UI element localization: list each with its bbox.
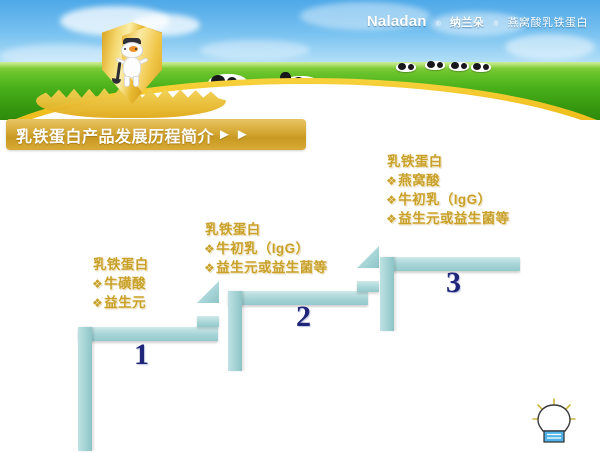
bullet-icon: ❖ (386, 174, 397, 188)
step-connector-nub-2 (357, 281, 379, 292)
brand-registered-mark: ® (436, 21, 441, 28)
step-3-line-1-text: 乳铁蛋白 (387, 154, 443, 169)
step-1-text-block: 乳铁蛋白 ❖牛磺酸 ❖益生元 (92, 255, 149, 312)
step-3-number: 3 (446, 266, 461, 300)
step-1-number: 1 (134, 338, 149, 372)
step-2-line-1-text: 乳铁蛋白 (205, 222, 261, 237)
lightbulb-icon (528, 398, 580, 446)
step-2-line-2: ❖牛初乳（IgG） (204, 239, 327, 258)
brand-tagline: 燕窝酸乳铁蛋白 (508, 14, 589, 30)
step-1-line-3-text: 益生元 (104, 295, 146, 310)
step-3-line-2-text: 燕窝酸 (398, 173, 440, 188)
step-2-line-3-text: 益生元或益生菌等 (216, 260, 327, 275)
step-3-line-3: ❖牛初乳（IgG） (386, 190, 509, 209)
step-2-line-1: 乳铁蛋白 (204, 220, 327, 239)
brand-name-chinese: 纳兰朵 (450, 14, 485, 30)
step-connector-triangle-2 (357, 246, 379, 268)
bullet-icon: ❖ (92, 296, 103, 310)
step-3-text-block: 乳铁蛋白 ❖燕窝酸 ❖牛初乳（IgG） ❖益生元或益生菌等 (386, 152, 509, 229)
cow-mascot-icon (118, 42, 146, 88)
step-2-line-3: ❖益生元或益生菌等 (204, 258, 327, 277)
step-1-line-2: ❖牛磺酸 (92, 274, 149, 293)
cow-illustration (395, 62, 417, 72)
step-1-riser (78, 327, 92, 451)
bullet-icon: ❖ (204, 242, 215, 256)
cow-illustration (424, 60, 446, 70)
step-3-line-1: 乳铁蛋白 (386, 152, 509, 171)
step-1-line-2-text: 牛磺酸 (104, 276, 146, 291)
step-connector-nub-1 (197, 316, 219, 327)
bullet-icon: ❖ (92, 277, 103, 291)
step-2-line-2-text: 牛初乳（IgG） (216, 241, 309, 256)
brand-registered-mark-cn: ® (493, 21, 498, 28)
slide-title-banner: 乳铁蛋白产品发展历程简介 ►► (6, 119, 306, 150)
cloud (200, 40, 310, 60)
slide-canvas: Naladan® 纳兰朵® 燕窝酸乳铁蛋白 乳铁蛋白产品发展历程简介 ►► 乳铁… (0, 0, 600, 453)
step-1-line-3: ❖益生元 (92, 293, 149, 312)
step-3-line-4: ❖益生元或益生菌等 (386, 209, 509, 228)
step-1-line-1: 乳铁蛋白 (92, 255, 149, 274)
step-3-riser (380, 257, 394, 331)
shield-emblem (88, 22, 174, 130)
step-3-line-3-text: 牛初乳（IgG） (398, 192, 491, 207)
cloud (505, 34, 595, 60)
double-arrow-icon: ►► (217, 126, 253, 143)
step-3-line-2: ❖燕窝酸 (386, 171, 509, 190)
bullet-icon: ❖ (386, 212, 397, 226)
step-connector-triangle-1 (197, 281, 219, 303)
page-title: 乳铁蛋白产品发展历程简介 (16, 123, 214, 147)
brand-name-latin: Naladan (367, 13, 427, 30)
brand-lockup: Naladan® 纳兰朵® 燕窝酸乳铁蛋白 (367, 13, 588, 30)
step-2-number: 2 (296, 300, 311, 334)
bullet-icon: ❖ (386, 193, 397, 207)
step-1-line-1-text: 乳铁蛋白 (93, 257, 149, 272)
step-2-text-block: 乳铁蛋白 ❖牛初乳（IgG） ❖益生元或益生菌等 (204, 220, 327, 277)
step-3-line-4-text: 益生元或益生菌等 (398, 211, 509, 226)
bullet-icon: ❖ (204, 261, 215, 275)
cow-illustration (470, 62, 492, 72)
cow-illustration (448, 61, 470, 71)
step-2-riser (228, 291, 242, 371)
